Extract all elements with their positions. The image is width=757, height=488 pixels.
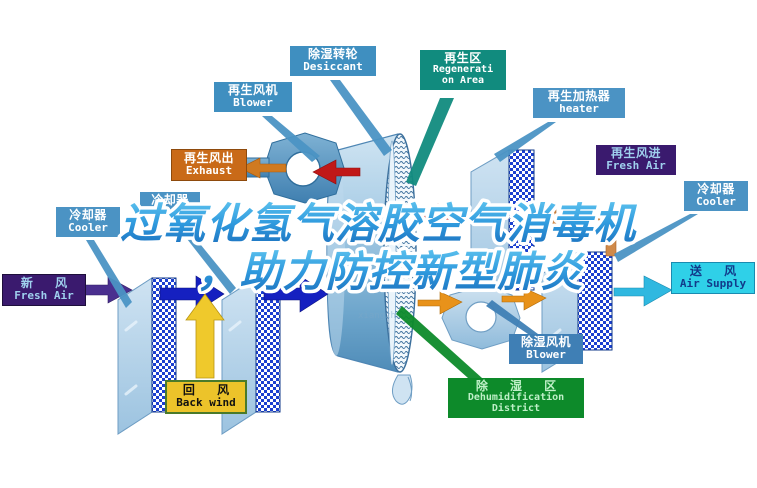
diagram-canvas: xiangzhuo [0,0,757,488]
callout-regeneration-heater-en: heater [537,103,621,115]
callout-desiccant-rotor-cn: 除湿转轮 [294,48,372,61]
callout-regeneration-exhaust[interactable]: 再生风出 Exhaust [171,149,247,181]
callout-back-wind-en: Back wind [171,397,241,409]
callout-dehumidification-district[interactable]: 除 湿 区 Dehumidification District [448,378,584,418]
overlay-title-line2-fill: ，助力防控新型肺炎 [196,247,585,294]
callout-regeneration-heater[interactable]: 再生加热器 heater [533,88,625,118]
callout-regeneration-exhaust-cn: 再生风出 [176,152,242,165]
callout-regeneration-area-en-line2: on Area [424,76,502,87]
callout-regeneration-blower-cn: 再生风机 [218,84,288,97]
callout-regeneration-area[interactable]: 再生区 Regenerati on Area [420,50,506,90]
callout-dehumidification-district-en-line2: District [452,404,580,415]
callout-regeneration-area-cn: 再生区 [424,52,502,65]
callout-desiccant-rotor-en: Desiccant [294,61,372,73]
callout-dehumidifying-blower[interactable]: 除湿风机 Blower [509,334,583,364]
overlay-title-line1-fill: 过氧化氢气溶胶空气消毒机 [120,199,638,248]
callout-regeneration-blower-en: Blower [218,97,288,109]
callout-regeneration-blower[interactable]: 再生风机 Blower [214,82,292,112]
callout-dehumidification-district-cn: 除 湿 区 [452,380,580,393]
callout-dehumidifying-blower-en: Blower [513,349,579,361]
callout-regeneration-fresh-air-in[interactable]: 再生风进 Fresh Air [596,145,676,175]
callout-cooler-right-cn: 冷却器 [688,183,744,196]
callout-regeneration-exhaust-en: Exhaust [176,165,242,177]
back-wind-arrow [186,294,224,378]
callout-desiccant-rotor[interactable]: 除湿转轮 Desiccant [290,46,376,76]
callout-dehumidifying-blower-cn: 除湿风机 [513,336,579,349]
callout-regeneration-fresh-air-in-en: Fresh Air [600,160,672,172]
callout-back-wind[interactable]: 回 风 Back wind [165,380,247,414]
overlay-title: 过氧化氢气溶胶空气消毒机 过氧化氢气溶胶空气消毒机 ，助力防控新型肺炎 ，助力防… [0,198,757,294]
callout-back-wind-cn: 回 风 [171,384,241,397]
callout-regeneration-heater-cn: 再生加热器 [537,90,621,103]
callout-regeneration-fresh-air-in-cn: 再生风进 [600,147,672,160]
